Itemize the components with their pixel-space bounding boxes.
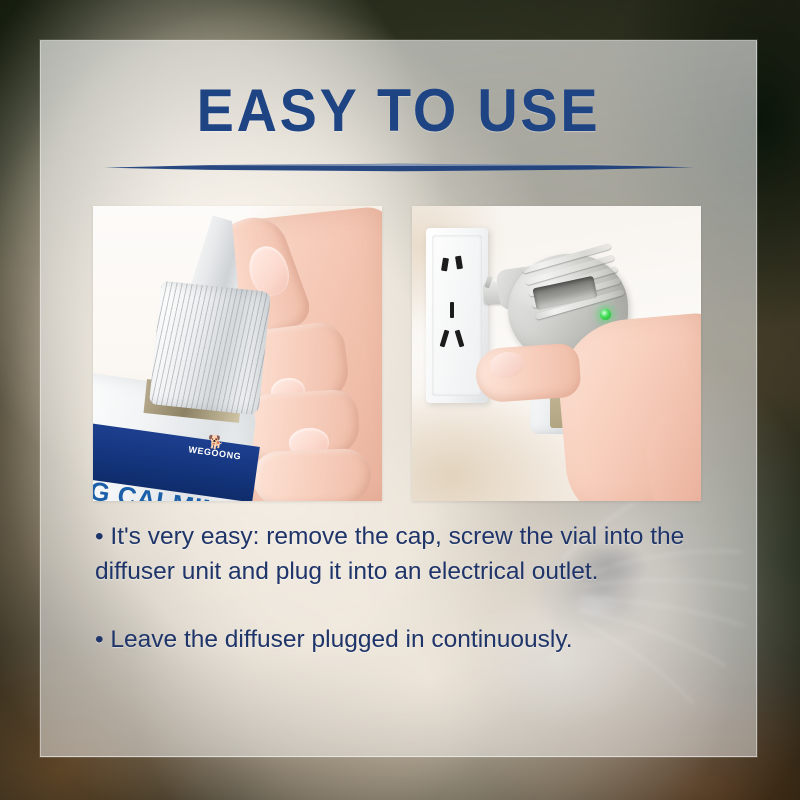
instruction-bullet-1: • It's very easy: remove the cap, screw … xyxy=(95,519,723,589)
green-led-icon xyxy=(600,309,611,320)
instruction-bullet-2: • Leave the diffuser plugged in continuo… xyxy=(95,622,723,657)
divider-highlight xyxy=(139,164,658,166)
thumb xyxy=(474,342,582,403)
photo-plug-in-diffuser xyxy=(412,206,701,501)
title-divider xyxy=(104,163,694,172)
photo-plug-in-diffuser-content xyxy=(412,206,701,501)
instruction-list: • It's very easy: remove the cap, screw … xyxy=(95,519,723,657)
content-panel: EASY TO USE xyxy=(40,40,757,757)
little-finger xyxy=(252,448,372,501)
outlet-ground-slot xyxy=(450,302,454,318)
page-title: EASY TO USE xyxy=(66,81,731,141)
photo-remove-cap: 🐕 WEGOONG DOG CALMING anding fr REFILL F… xyxy=(93,206,382,501)
vial-ribbed-cap xyxy=(149,281,271,416)
photo-remove-cap-content: 🐕 WEGOONG DOG CALMING anding fr REFILL F… xyxy=(93,206,382,501)
infographic-canvas: EASY TO USE xyxy=(0,0,800,800)
